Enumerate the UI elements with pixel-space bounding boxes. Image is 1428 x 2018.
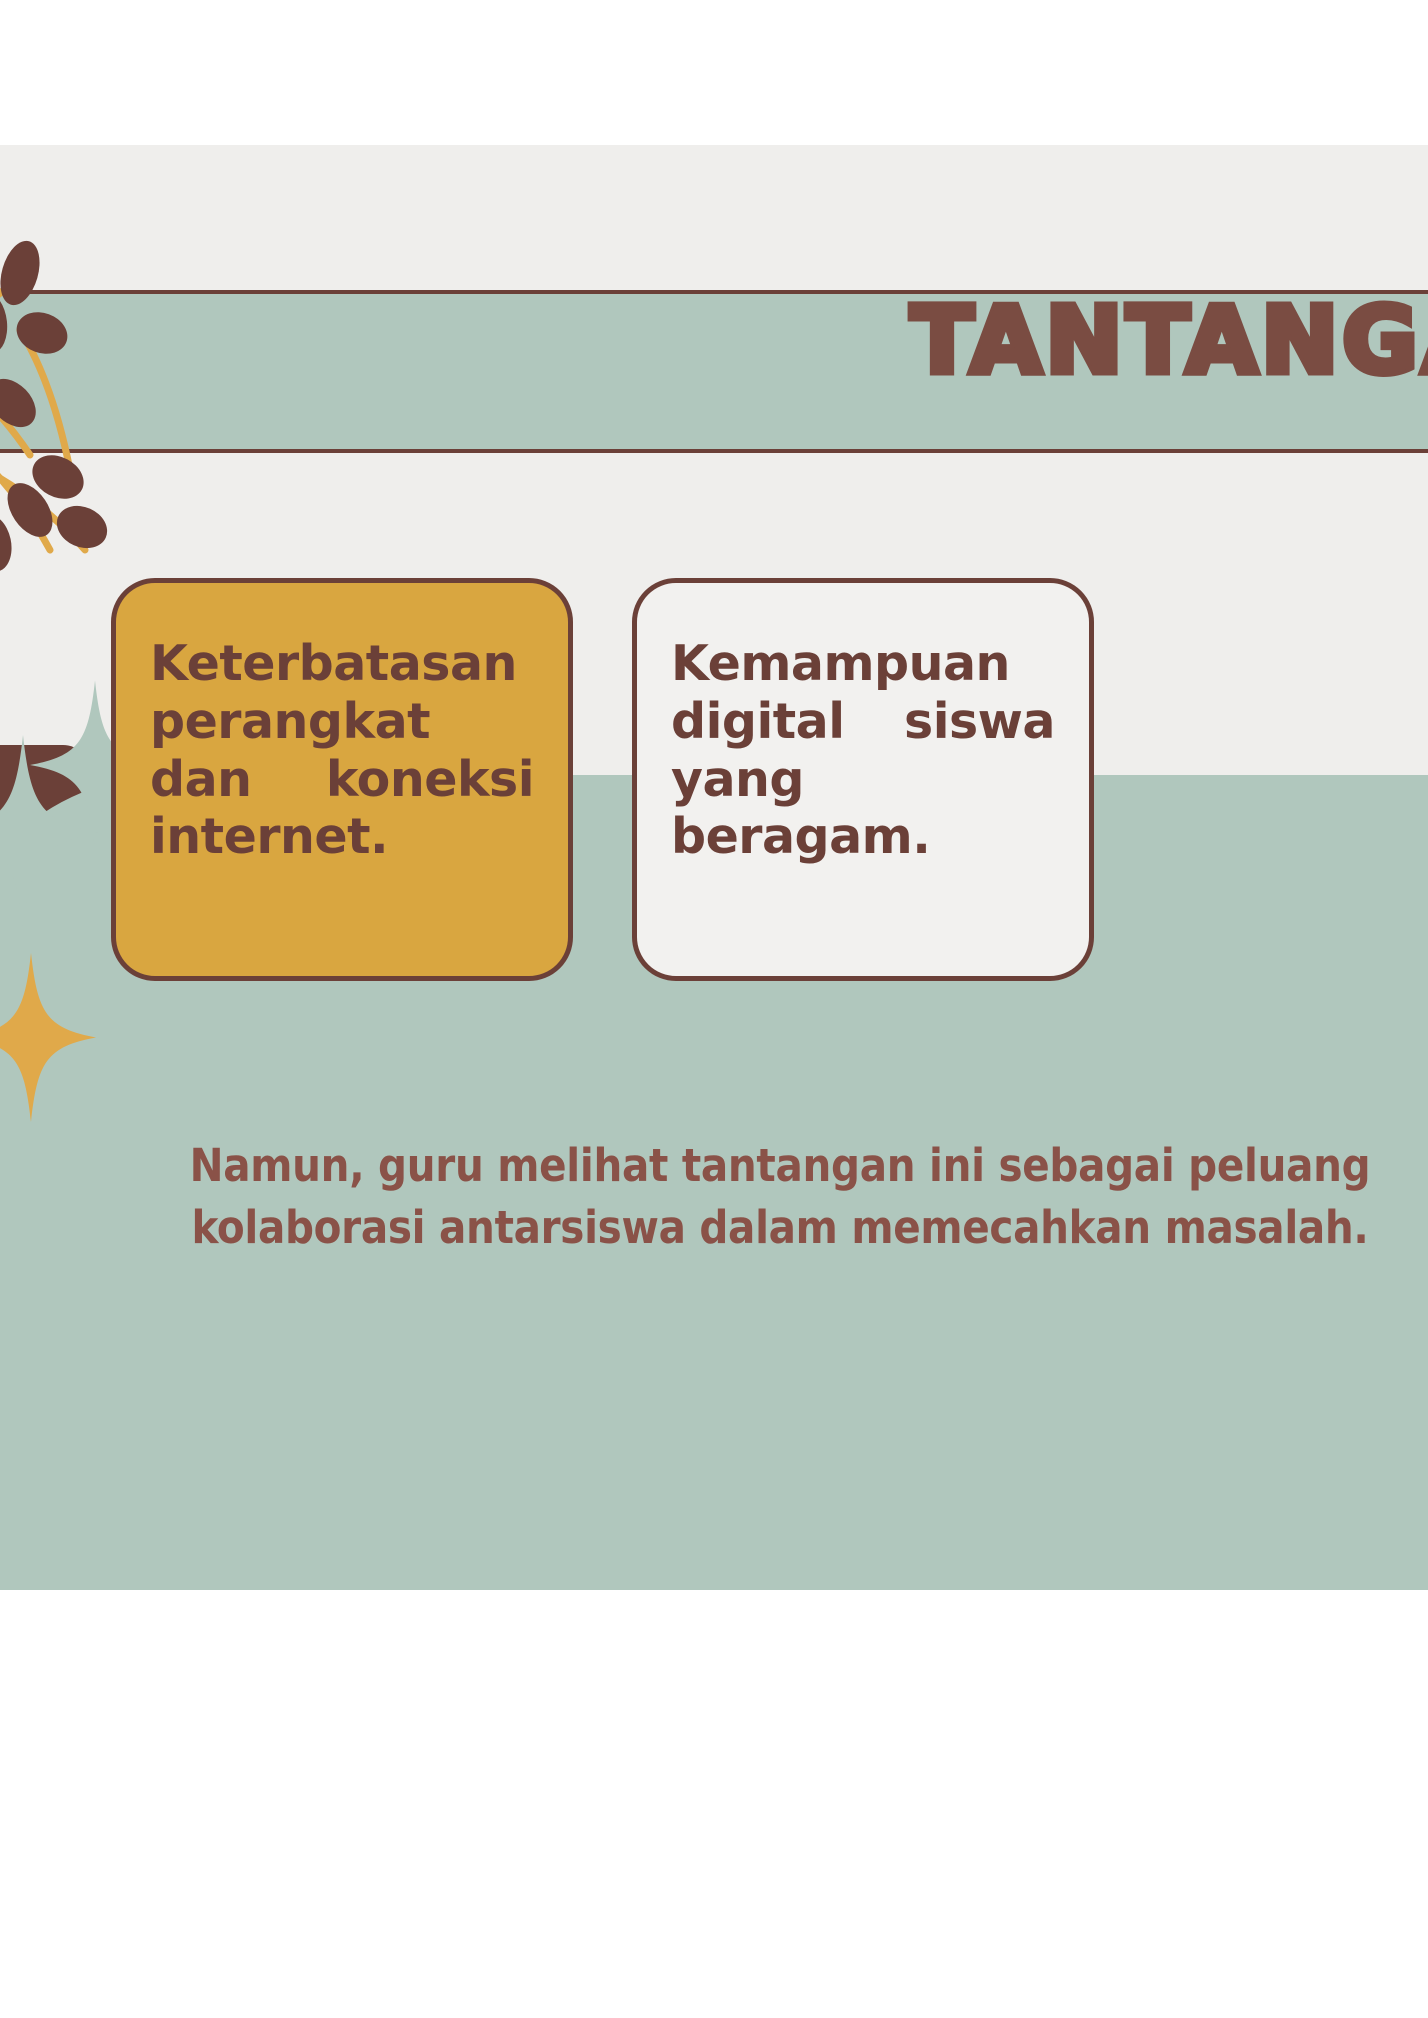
cards-row: Keterbatasan perangkat dan koneksi inter…	[0, 145, 1428, 1590]
card-kemampuan-text: Kemampuan digital siswa yang beragam.	[671, 635, 1055, 866]
bottom-paragraph: Namun, guru melihat tantangan ini sebaga…	[0, 1135, 1428, 1259]
bottom-paragraph-line-2: kolaborasi antarsiswa dalam memecahkan m…	[0, 1197, 1428, 1259]
card-keterbatasan[interactable]: Keterbatasan perangkat dan koneksi inter…	[111, 578, 573, 981]
card-kemampuan[interactable]: Kemampuan digital siswa yang beragam.	[632, 578, 1094, 981]
bottom-paragraph-line-1: Namun, guru melihat tantangan ini sebaga…	[0, 1135, 1428, 1197]
card-keterbatasan-text: Keterbatasan perangkat dan koneksi inter…	[150, 635, 534, 866]
slide-canvas: TANTANGAN	[0, 145, 1428, 1590]
